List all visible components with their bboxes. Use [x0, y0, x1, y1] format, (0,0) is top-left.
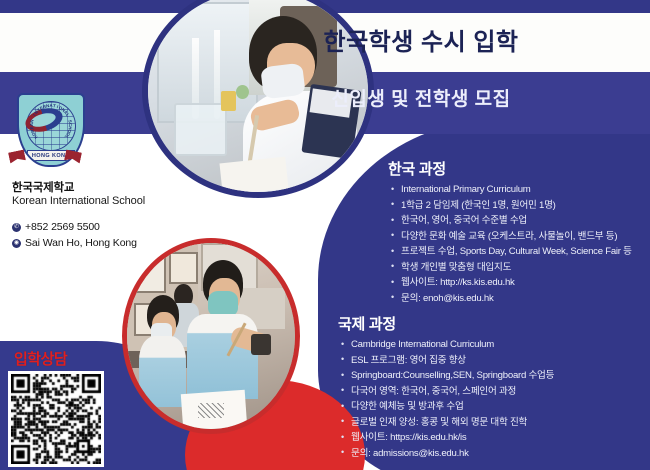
- international-curriculum-list: Cambridge International CurriculumESL 프로…: [338, 337, 650, 461]
- qr-code[interactable]: [8, 371, 104, 467]
- curriculum-item: 웹사이트: https://kis.edu.hk/is: [338, 430, 650, 446]
- international-curriculum-block: 국제 과정 Cambridge International Curriculum…: [338, 313, 650, 461]
- logo-arc-text: KOREAN INTERNATIONAL SCHOOL: [25, 99, 77, 151]
- curriculum-item: 1학급 2 담임제 (한국인 1명, 원어민 1명): [388, 198, 650, 214]
- contact-address-text: Sai Wan Ho, Hong Kong: [25, 235, 137, 251]
- curriculum-item: Cambridge International Curriculum: [338, 337, 650, 353]
- curriculum-item: 프로젝트 수업, Sports Day, Cultural Week, Scie…: [388, 244, 650, 260]
- curriculum-item: 글로벌 인재 양성: 홍콩 및 해외 명문 대학 진학: [338, 415, 650, 431]
- curriculum-item: 다국어 영역: 한국어, 중국어, 스페인어 과정: [338, 384, 650, 400]
- curriculum-item: 학생 개인별 맞춤형 대입지도: [388, 260, 650, 276]
- location-pin-icon: ◉: [12, 239, 21, 248]
- curriculum-item: 문의: admissions@kis.edu.hk: [338, 446, 650, 462]
- school-name-english: Korean International School: [12, 195, 145, 209]
- curriculum-item: ESL 프로그램: 영어 집중 향상: [338, 353, 650, 369]
- page-title: 한국학생 수시 입학: [0, 22, 650, 57]
- curriculum-item: 한국어, 영어, 중국어 수준별 수업: [388, 213, 650, 229]
- school-name-block: 한국국제학교 Korean International School: [12, 182, 145, 209]
- admissions-poster: 한국학생 수시 입학 신입생 및 전학생 모집: [0, 0, 650, 470]
- korean-curriculum-list: International Primary Curriculum1학급 2 담임…: [388, 182, 650, 306]
- school-logo: KOREAN INTERNATIONAL SCHOOL HONG KONG: [12, 93, 90, 177]
- curriculum-item: International Primary Curriculum: [388, 182, 650, 198]
- school-name-korean: 한국국제학교: [12, 182, 145, 195]
- art-class-photo: [122, 238, 300, 434]
- contact-address: ◉ Sai Wan Ho, Hong Kong: [12, 235, 137, 251]
- contact-list: ✆ +852 2569 5500 ◉ Sai Wan Ho, Hong Kong: [12, 219, 137, 252]
- international-curriculum-heading: 국제 과정: [338, 313, 650, 334]
- korean-curriculum-block: 한국 과정 International Primary Curriculum1학…: [388, 158, 650, 306]
- contact-phone: ✆ +852 2569 5500: [12, 219, 137, 235]
- qr-label: 입학상담: [14, 348, 67, 369]
- contact-phone-text: +852 2569 5500: [25, 219, 100, 235]
- page-subtitle: 신입생 및 전학생 모집: [0, 84, 650, 111]
- curriculum-item: 문의: enoh@kis.edu.hk: [388, 291, 650, 307]
- curriculum-item: 다양한 예체능 및 방과후 수업: [338, 399, 650, 415]
- curriculum-item: 다양한 문화 예술 교육 (오케스트라, 사물놀이, 밴드부 등): [388, 229, 650, 245]
- curriculum-item: 웹사이트: http://ks.kis.edu.hk: [388, 275, 650, 291]
- ribbon-left-icon: [8, 149, 26, 163]
- phone-icon: ✆: [12, 223, 21, 232]
- curriculum-item: Springboard:Counselling,SEN, Springboard…: [338, 368, 650, 384]
- korean-curriculum-heading: 한국 과정: [388, 158, 650, 179]
